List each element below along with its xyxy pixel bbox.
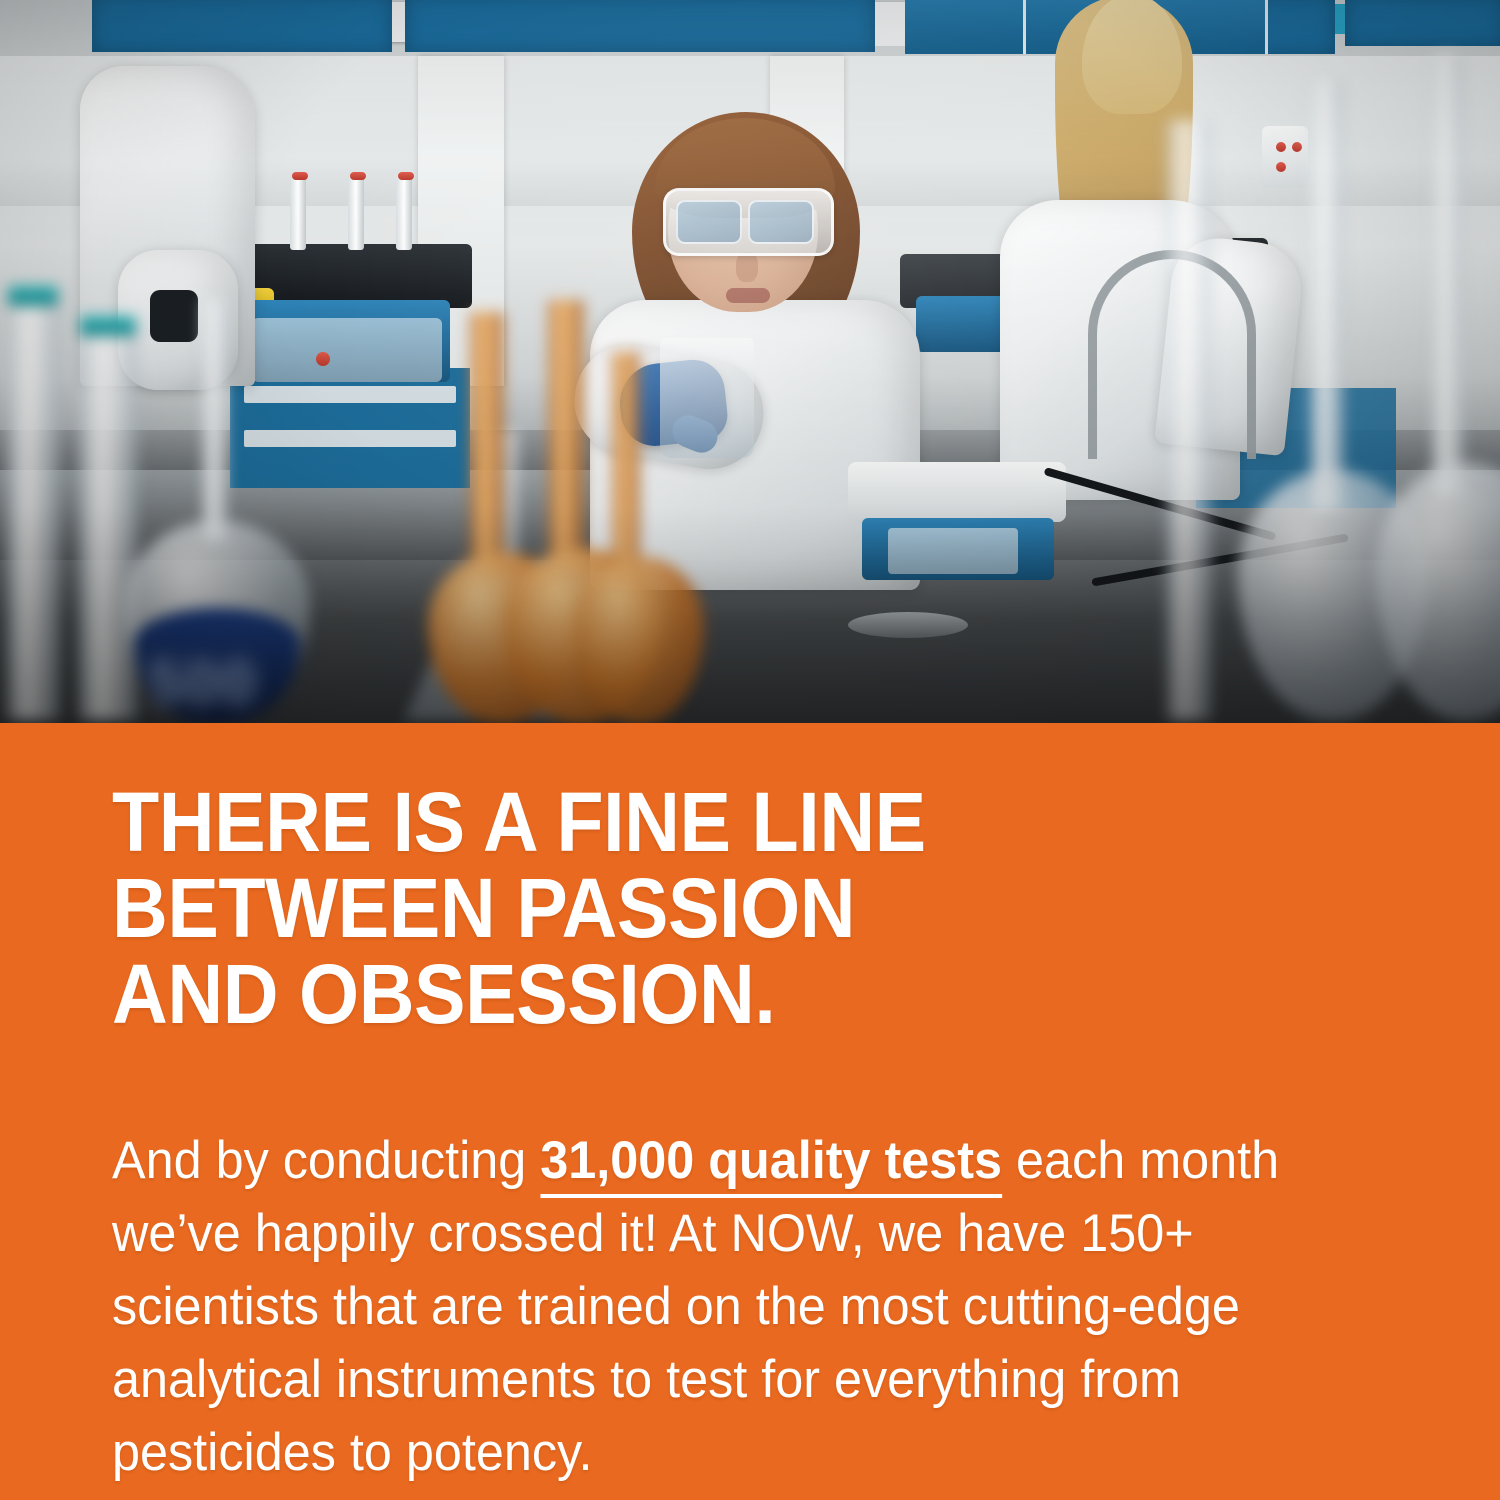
lab-photo: 500 bbox=[0, 0, 1500, 723]
headline: THERE IS A FINE LINE BETWEEN PASSION AND… bbox=[112, 779, 1299, 1037]
amber-flask-neck bbox=[612, 352, 640, 574]
cylinder-cap bbox=[8, 286, 58, 306]
orange-message-panel: THERE IS A FINE LINE BETWEEN PASSION AND… bbox=[0, 723, 1500, 1500]
graduated-cylinder bbox=[1166, 120, 1212, 720]
quality-tests-highlight: 31,000 quality tests bbox=[540, 1131, 1002, 1198]
foreground-glassware-group bbox=[0, 0, 1500, 723]
cylinder-cap bbox=[80, 316, 136, 336]
volumetric-flask-neck bbox=[1310, 80, 1344, 510]
graduated-cylinder bbox=[78, 330, 138, 720]
volumetric-flask-neck bbox=[202, 300, 228, 540]
amber-flask-neck bbox=[470, 312, 504, 572]
volumetric-flask-neck bbox=[1432, 56, 1464, 496]
amber-flask-bulb bbox=[574, 556, 704, 723]
promo-canvas: 500 THERE IS A FINE LINE BETWEEN PASSION… bbox=[0, 0, 1500, 1500]
body-copy-before: And by conducting bbox=[112, 1131, 540, 1190]
flask-volume-label: 500 bbox=[148, 648, 257, 719]
body-copy: And by conducting 31,000 quality tests e… bbox=[112, 1124, 1347, 1489]
headline-line-3: AND OBSESSION. bbox=[112, 951, 1299, 1037]
headline-line-1: THERE IS A FINE LINE bbox=[112, 779, 1299, 865]
amber-flask-neck bbox=[548, 300, 584, 568]
headline-line-2: BETWEEN PASSION bbox=[112, 865, 1299, 951]
graduated-cylinder bbox=[6, 300, 60, 720]
